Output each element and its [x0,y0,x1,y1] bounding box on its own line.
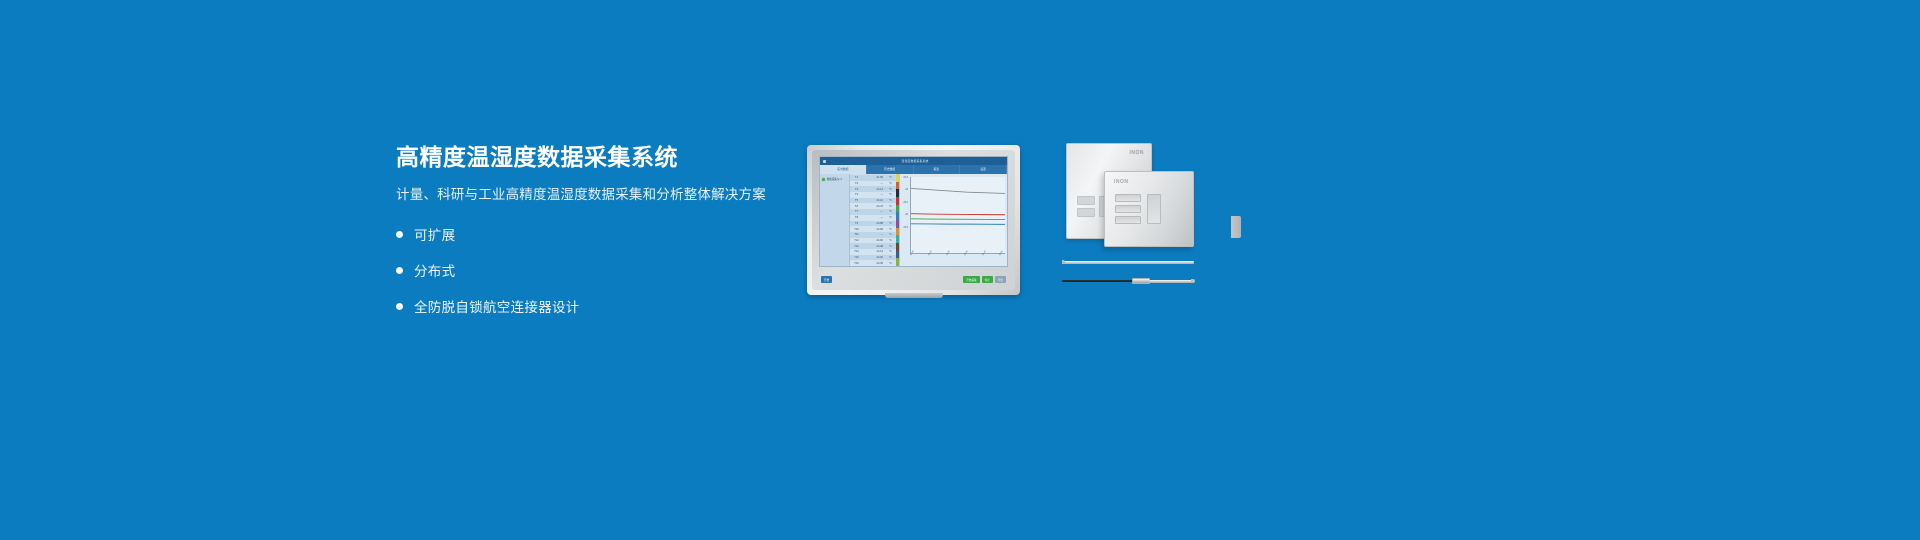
page-subtitle: 计量、科研与工业高精度温湿度数据采集和分析整体解决方案 [396,185,796,205]
chart-series-svg [911,177,1005,253]
product-panel-pc: 温湿度数据采集系统 实时数据 历史数据 报表 设置 数据采集仪-1 T1 [807,145,1020,295]
probe-sensor-rod [1062,258,1194,267]
probe-sensor-cable [1062,277,1194,286]
tab-realtime[interactable]: 实时数据 [820,165,867,174]
app-title: 温湿度数据采集系统 [826,157,1004,165]
cell-value: 24.38 [863,245,885,248]
cell-channel: T13 [850,245,863,248]
tab-settings[interactable]: 设置 [960,165,1007,174]
feature-label: 全防脱自锁航空连接器设计 [414,296,580,316]
feature-label: 分布式 [414,260,455,280]
cell-value: --- [863,210,885,213]
cell-value: --- [863,193,885,196]
device-tree-item[interactable]: 数据采集仪-1 [822,177,847,182]
cell-unit: ℃ [885,193,896,196]
y-tick-label: 24.0 [900,201,909,213]
cell-channel: T10 [850,228,863,231]
feature-list: 可扩展 分布式 全防脱自锁航空连接器设计 [396,221,796,319]
table-row: T16 24.35 ℃ [850,260,896,266]
cell-unit: ℃ [885,228,896,231]
cell-value: 24.58 [863,222,885,225]
tab-history[interactable]: 历史数据 [867,165,914,174]
cell-unit: ℃ [885,216,896,219]
cell-channel: T16 [850,262,863,265]
trend-chart: 24.5 24 24.0 20 23.5 [899,174,1007,266]
cell-value: 24.14 [863,250,885,253]
chart-x-axis: 10:00 10:10 10:20 10:30 10:40 10:50 [910,255,1005,262]
list-item: 分布式 [396,257,796,283]
bullet-dot-icon [396,267,403,274]
list-item: 可扩展 [396,221,796,247]
series-line-t1 [911,188,1005,193]
device-tree: 数据采集仪-1 [820,174,850,266]
channel-table: T1 21.83 ℃ T2 --- ℃ T3 24.14 ℃ [850,174,896,266]
cell-value: --- [863,216,885,219]
cell-channel: T1 [850,176,863,179]
series-line-t9 [911,224,1005,225]
product-probes [1062,258,1202,298]
cell-channel: T8 [850,216,863,219]
status-led-icon [822,178,825,181]
cell-value: --- [863,182,885,185]
start-acquisition-button[interactable]: 开始采集 [963,276,979,283]
cell-unit: ℃ [885,182,896,185]
bullet-dot-icon [396,231,403,238]
cell-channel: T3 [850,188,863,191]
export-button[interactable]: 导出 [995,276,1006,283]
cell-channel: T15 [850,256,863,259]
series-line-t5 [911,219,1005,220]
module-front-unit: INON [1104,171,1194,247]
cell-value: 21.83 [863,176,885,179]
cell-channel: T6 [850,205,863,208]
start-button[interactable]: 开始 [821,276,832,283]
cell-unit: ℃ [885,176,896,179]
cell-unit: ℃ [885,256,896,259]
chart-y-axis: 24.5 24 24.0 20 23.5 [900,176,909,254]
connector-slot [1147,194,1161,224]
list-item: 全防脱自锁航空连接器设计 [396,293,796,319]
tab-report[interactable]: 报表 [914,165,961,174]
x-tick-label: 10:50 [999,251,1008,260]
probe-connector [1132,278,1150,284]
y-tick-label: 23.5 [900,226,909,238]
cell-value: 24.47 [863,205,885,208]
y-tick-label: 20 [900,213,909,225]
probe-tube [1149,280,1194,283]
cell-unit: ℃ [885,233,896,236]
device-label: 数据采集仪-1 [827,177,842,182]
cell-channel: T11 [850,233,863,236]
cell-value: --- [863,233,885,236]
vent-panel [1077,208,1095,217]
banner-copy: 高精度温湿度数据采集系统 计量、科研与工业高精度温湿度数据采集和分析整体解决方案… [396,142,796,329]
cell-unit: ℃ [885,262,896,265]
cell-channel: T5 [850,199,863,202]
cell-value: 24.12 [863,199,885,202]
monitor-screen: 温湿度数据采集系统 实时数据 历史数据 报表 设置 数据采集仪-1 T1 [819,156,1008,267]
cell-channel: T14 [850,250,863,253]
chart-plot-area [910,177,1005,254]
cell-value: 24.14 [863,188,885,191]
probe-tip [1191,279,1195,283]
feature-label: 可扩展 [414,224,455,244]
cell-channel: T9 [850,222,863,225]
cell-value: 24.92 [863,256,885,259]
connector-slot [1115,194,1141,202]
vent-panel [1077,196,1095,205]
cell-unit: ℃ [885,222,896,225]
app-titlebar: 温湿度数据采集系统 [820,157,1007,165]
bullet-dot-icon [396,303,403,310]
cell-value: 24.66 [863,228,885,231]
cell-unit: ℃ [885,245,896,248]
cell-value: 24.35 [863,262,885,265]
series-line-t3 [911,214,1005,215]
page-title: 高精度温湿度数据采集系统 [396,142,796,172]
brand-logo: INON [1114,179,1129,185]
cell-unit: ℃ [885,188,896,191]
cell-unit: ℃ [885,250,896,253]
app-tabbar: 实时数据 历史数据 报表 设置 [820,165,1007,174]
cell-channel: T2 [850,182,863,185]
cell-unit: ℃ [885,210,896,213]
y-tick-label: 24 [900,188,909,200]
module-side-bracket [1231,216,1241,238]
cell-unit: ℃ [885,199,896,202]
monitor-stand [885,293,943,298]
app-body: 数据采集仪-1 T1 21.83 ℃ T2 --- ℃ T3 [820,174,1007,266]
cell-unit: ℃ [885,205,896,208]
brand-logo: INON [1130,150,1145,156]
cell-channel: T12 [850,239,863,242]
connector-slot [1115,205,1141,213]
cell-channel: T7 [850,210,863,213]
cell-value: 24.90 [863,239,885,242]
y-tick-label: 24.5 [900,176,909,188]
screen-action-bar: 开始 开始采集 停止 导出 [819,275,1008,284]
hero-banner: 高精度温湿度数据采集系统 计量、科研与工业高精度温湿度数据采集和分析整体解决方案… [0,0,1920,540]
connector-slot [1115,216,1141,224]
cell-unit: ℃ [885,239,896,242]
probe-cable [1062,280,1134,282]
cell-channel: T4 [850,193,863,196]
stop-button[interactable]: 停止 [982,276,993,283]
probe-tube [1062,261,1194,264]
